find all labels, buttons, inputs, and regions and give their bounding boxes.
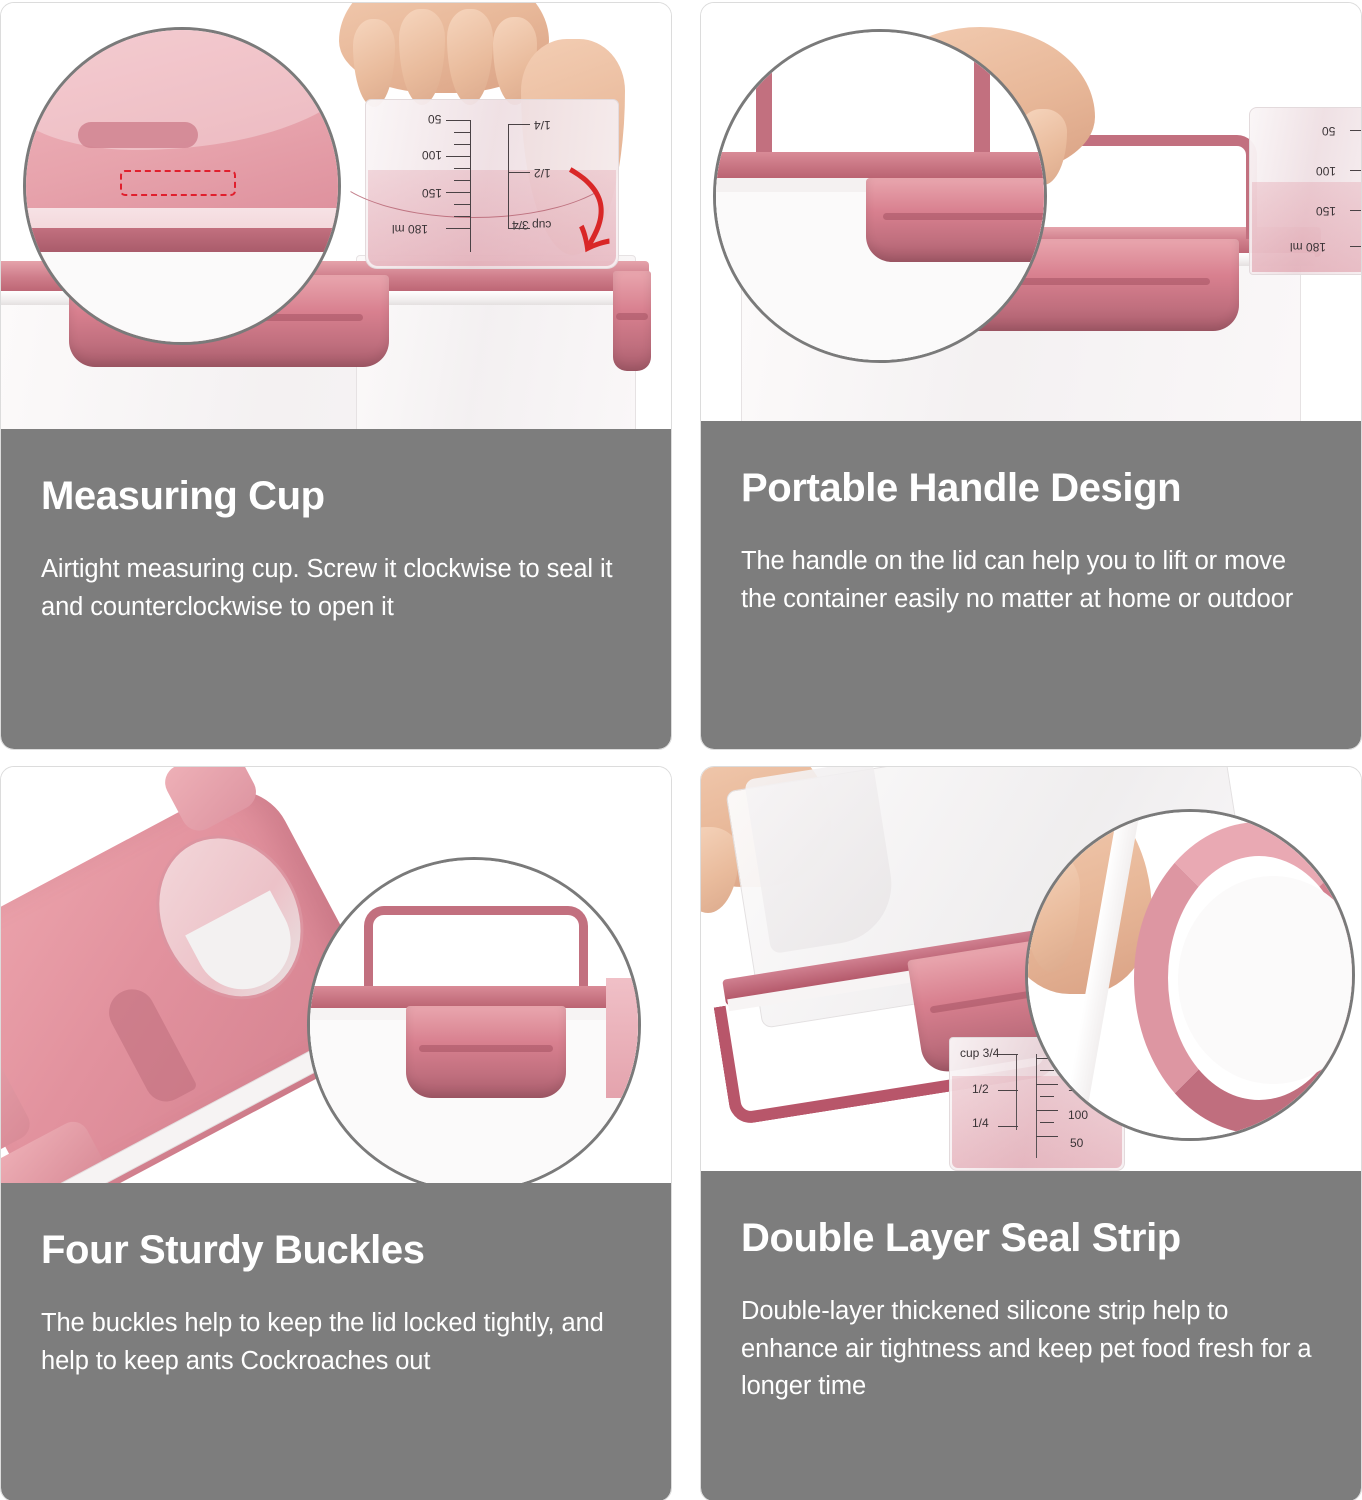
product-photo-portable-handle: 50 100 150 180 ml [701, 3, 1361, 421]
product-photo-double-seal-strip: 180 ml 150 100 50 cup 3/4 1/2 1/4 [701, 767, 1361, 1171]
cup-tick-axis [470, 120, 471, 252]
finger-1 [353, 19, 395, 107]
magnifier-single-buckle [307, 857, 641, 1183]
cup-mark-ml-150: 150 [422, 186, 442, 200]
panel-description: Airtight measuring cup. Screw it clockwi… [41, 551, 631, 626]
cup-mark-half: 1/2 [534, 166, 551, 180]
buckle-closeup [866, 178, 1047, 262]
feature-grid: 50 100 150 180 ml 1/4 1/2 cup 3/4 ⤵ [0, 0, 1362, 1500]
magnifier-screw-thread [23, 27, 341, 345]
cup-mark-ml-50: 50 [428, 112, 441, 126]
cup-mark-quarter: 1/4 [972, 1116, 989, 1130]
panel-title: Portable Handle Design [741, 467, 1321, 509]
panel-title: Four Sturdy Buckles [41, 1229, 631, 1271]
buckle-closeup [406, 1006, 566, 1098]
caption-measuring-cup: Measuring Cup Airtight measuring cup. Sc… [1, 429, 671, 749]
panel-title: Measuring Cup [41, 475, 631, 517]
measuring-cup-partial: 50 100 150 180 ml [1249, 107, 1361, 275]
panel-title: Double Layer Seal Strip [741, 1217, 1321, 1259]
cup-mark-ml-180: 180 ml [392, 222, 428, 236]
panel-description: The buckles help to keep the lid locked … [41, 1305, 631, 1380]
panel-description: The handle on the lid can help you to li… [741, 543, 1321, 618]
product-photo-measuring-cup: 50 100 150 180 ml 1/4 1/2 cup 3/4 ⤵ [1, 3, 671, 429]
feature-panel-measuring-cup: 50 100 150 180 ml 1/4 1/2 cup 3/4 ⤵ [0, 2, 672, 750]
cup-mark-ml-100: 100 [1316, 164, 1336, 178]
feature-panel-four-buckles: Four Sturdy Buckles The buckles help to … [0, 766, 672, 1500]
cup-mark-ml-180: 180 ml [1290, 240, 1326, 254]
caption-four-buckles: Four Sturdy Buckles The buckles help to … [1, 1183, 671, 1500]
cup-mark-quarter: 1/4 [534, 118, 551, 132]
buckle-right [613, 271, 651, 371]
handle-closeup [364, 906, 588, 992]
cup-mark-three-quarter: cup 3/4 [960, 1046, 999, 1060]
cup-mark-ml-50: 50 [1322, 124, 1335, 138]
cup-mark-ml-100: 100 [422, 148, 442, 162]
feature-panel-double-seal-strip: 180 ml 150 100 50 cup 3/4 1/2 1/4 [700, 766, 1362, 1500]
magnifier-handle-buckle [713, 29, 1047, 363]
lid-inner-closeup [1178, 876, 1355, 1084]
cup-mark-half: 1/2 [972, 1082, 989, 1096]
panel-description: Double-layer thickened silicone strip he… [741, 1293, 1321, 1406]
magnifier-seal-strip [1025, 809, 1355, 1141]
feature-panel-portable-handle: 50 100 150 180 ml Portable Hand [700, 2, 1362, 750]
caption-portable-handle: Portable Handle Design The handle on the… [701, 421, 1361, 749]
cup-mark-ml-50: 50 [1070, 1136, 1083, 1150]
product-photo-four-buckles [1, 767, 671, 1183]
cup-mark-ml-150: 150 [1316, 204, 1336, 218]
caption-double-seal-strip: Double Layer Seal Strip Double-layer thi… [701, 1171, 1361, 1500]
thread-highlight-outline [120, 170, 236, 196]
